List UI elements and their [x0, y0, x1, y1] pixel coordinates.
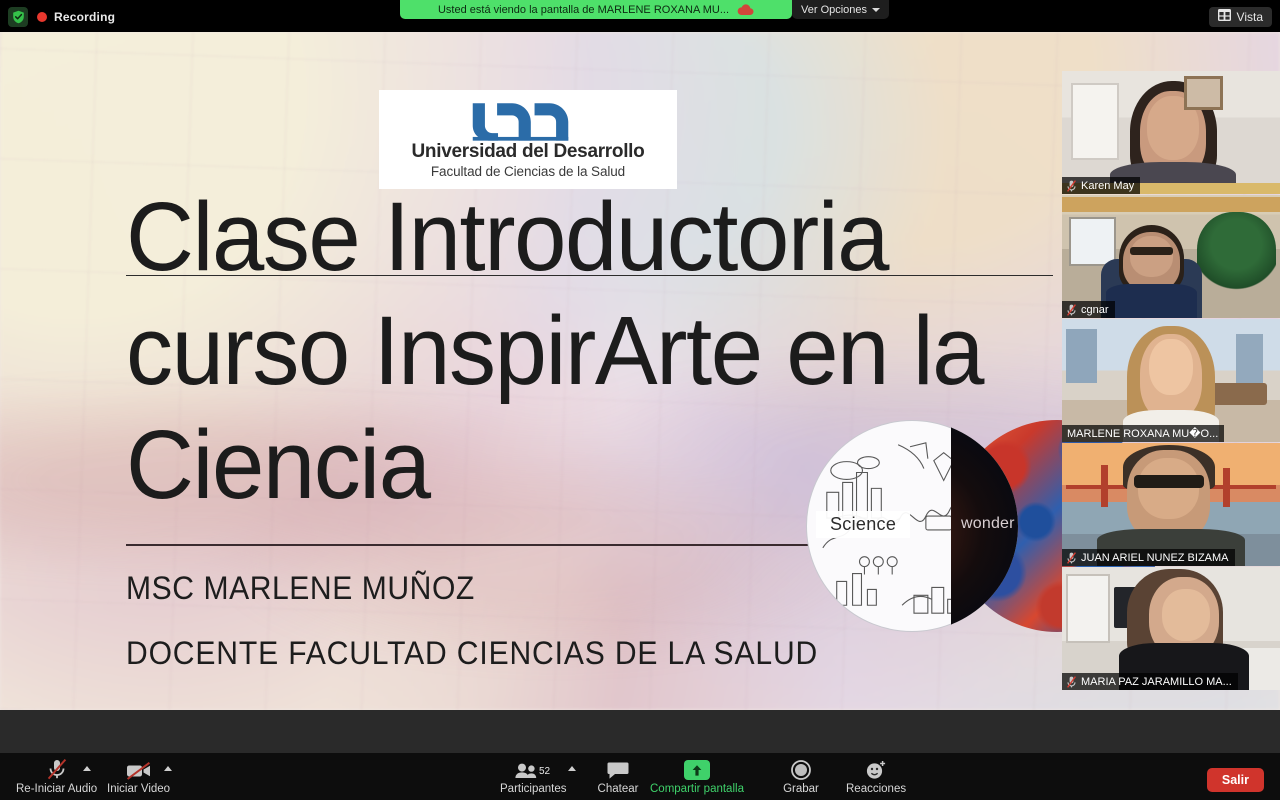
participant-name-bar: JUAN ARIEL NUNEZ BIZAMA — [1062, 549, 1235, 566]
svg-text:52: 52 — [539, 766, 551, 777]
people-icon: 52 — [514, 758, 552, 780]
participant-tile-active-speaker[interactable]: MARLENE ROXANA MU�O... — [1062, 319, 1280, 442]
screen-share-banner: Usted está viendo la pantalla de MARLENE… — [400, 0, 792, 19]
chat-bubble-icon — [607, 758, 629, 780]
leave-meeting-button[interactable]: Salir — [1207, 768, 1264, 792]
participant-tile[interactable]: MARIA PAZ JARAMILLO MA... — [1062, 567, 1280, 690]
recording-indicator-group: Recording — [8, 7, 115, 27]
participant-name: JUAN ARIEL NUNEZ BIZAMA — [1081, 552, 1229, 564]
participant-video-feed — [1062, 195, 1280, 318]
science-wonder-venn-diagram: Science wonder — [806, 420, 1106, 642]
view-layout-label: Vista — [1237, 10, 1263, 24]
title-divider-top — [126, 275, 1053, 276]
top-bar: Recording Usted está viendo la pantalla … — [0, 0, 1280, 32]
participant-tile[interactable]: Karen May — [1062, 71, 1280, 194]
participant-tile[interactable]: cgnar — [1062, 195, 1280, 318]
recording-label: Recording — [54, 10, 115, 24]
record-dot-icon — [37, 12, 47, 22]
participants-options-caret-icon[interactable] — [568, 766, 576, 771]
participant-tile[interactable]: JUAN ARIEL NUNEZ BIZAMA — [1062, 443, 1280, 566]
share-screen-up-arrow-icon — [684, 758, 710, 780]
mic-muted-icon — [1067, 180, 1076, 192]
toolbar-reactions-label: Reacciones — [846, 783, 906, 795]
toolbar-share-screen-button[interactable]: Compartir pantalla — [650, 758, 744, 795]
participant-name: MARIA PAZ JARAMILLO MA... — [1081, 676, 1232, 688]
toolbar-record-label: Grabar — [783, 783, 819, 795]
venn-science-label: Science — [816, 511, 910, 538]
slide-presenter-name: MSC MARLENE MUÑOZ — [126, 570, 475, 607]
record-circle-icon — [791, 758, 811, 780]
screen-share-text: Usted está viendo la pantalla de MARLENE… — [438, 4, 729, 16]
udd-faculty-name: Facultad de Ciencias de la Salud — [431, 165, 625, 179]
toolbar-video-label: Iniciar Video — [107, 783, 170, 795]
toolbar-share-screen-label: Compartir pantalla — [650, 783, 744, 795]
participant-name-bar: MARIA PAZ JARAMILLO MA... — [1062, 673, 1238, 690]
participant-video-feed — [1062, 443, 1280, 566]
participant-name: MARLENE ROXANA MU�O... — [1067, 427, 1218, 440]
participant-name-bar: MARLENE ROXANA MU�O... — [1062, 425, 1224, 442]
mic-muted-icon — [1067, 304, 1076, 316]
udd-logo-card: Universidad del Desarrollo Facultad de C… — [379, 90, 677, 189]
toolbar-record-button[interactable]: Grabar — [774, 758, 828, 795]
toolbar-participants-button[interactable]: 52 Participantes — [500, 758, 566, 795]
participant-name: Karen May — [1081, 180, 1134, 192]
toolbar-video-button[interactable]: Iniciar Video — [107, 758, 170, 795]
view-options-button[interactable]: Ver Opciones — [792, 0, 889, 19]
zoom-meeting-window: Recording Usted está viendo la pantalla … — [0, 0, 1280, 800]
venn-wonder-label: wonder — [961, 515, 1015, 533]
video-options-caret-icon[interactable] — [164, 766, 172, 771]
camera-off-icon — [126, 758, 152, 780]
participant-video-feed — [1062, 71, 1280, 194]
slide-title-line-1: Clase Introductoria — [126, 180, 1028, 294]
toolbar-audio-label: Re-Iniciar Audio — [16, 783, 97, 795]
meeting-toolbar: Re-Iniciar Audio Iniciar Video 52 Partic… — [0, 753, 1280, 800]
slide-title-line-2: curso InspirArte en la — [126, 294, 1028, 408]
toolbar-chat-label: Chatear — [598, 783, 639, 795]
toolbar-chat-button[interactable]: Chatear — [591, 758, 645, 795]
toolbar-participants-label: Participantes — [500, 783, 566, 795]
toolbar-reactions-button[interactable]: Reacciones — [846, 758, 906, 795]
shield-check-icon[interactable] — [8, 7, 28, 27]
participant-video-feed — [1062, 567, 1280, 690]
mic-muted-icon — [1067, 676, 1076, 688]
view-options-label: Ver Opciones — [801, 4, 867, 16]
udd-university-name: Universidad del Desarrollo — [412, 142, 645, 161]
participant-video-strip[interactable]: Karen May cgnar MARLENE ROXANA MU�O... — [1062, 71, 1280, 691]
smiley-reactions-icon — [865, 758, 887, 780]
audio-options-caret-icon[interactable] — [83, 766, 91, 771]
stage-gap — [0, 710, 1280, 753]
mic-muted-icon — [46, 758, 68, 780]
mic-muted-icon — [1067, 552, 1076, 564]
grid-view-icon — [1218, 8, 1231, 26]
participant-name-bar: cgnar — [1062, 301, 1115, 318]
cloud-recording-icon — [737, 4, 754, 16]
toolbar-audio-button[interactable]: Re-Iniciar Audio — [16, 758, 97, 795]
udd-monogram-icon — [469, 101, 587, 141]
recording-status[interactable]: Recording — [37, 10, 115, 24]
chevron-down-icon — [872, 8, 880, 12]
view-layout-button[interactable]: Vista — [1209, 7, 1272, 27]
participant-video-feed — [1062, 319, 1280, 442]
participant-name-bar: Karen May — [1062, 177, 1140, 194]
participant-name: cgnar — [1081, 304, 1109, 316]
slide-presenter-role: DOCENTE FACULTAD CIENCIAS DE LA SALUD — [126, 635, 818, 672]
